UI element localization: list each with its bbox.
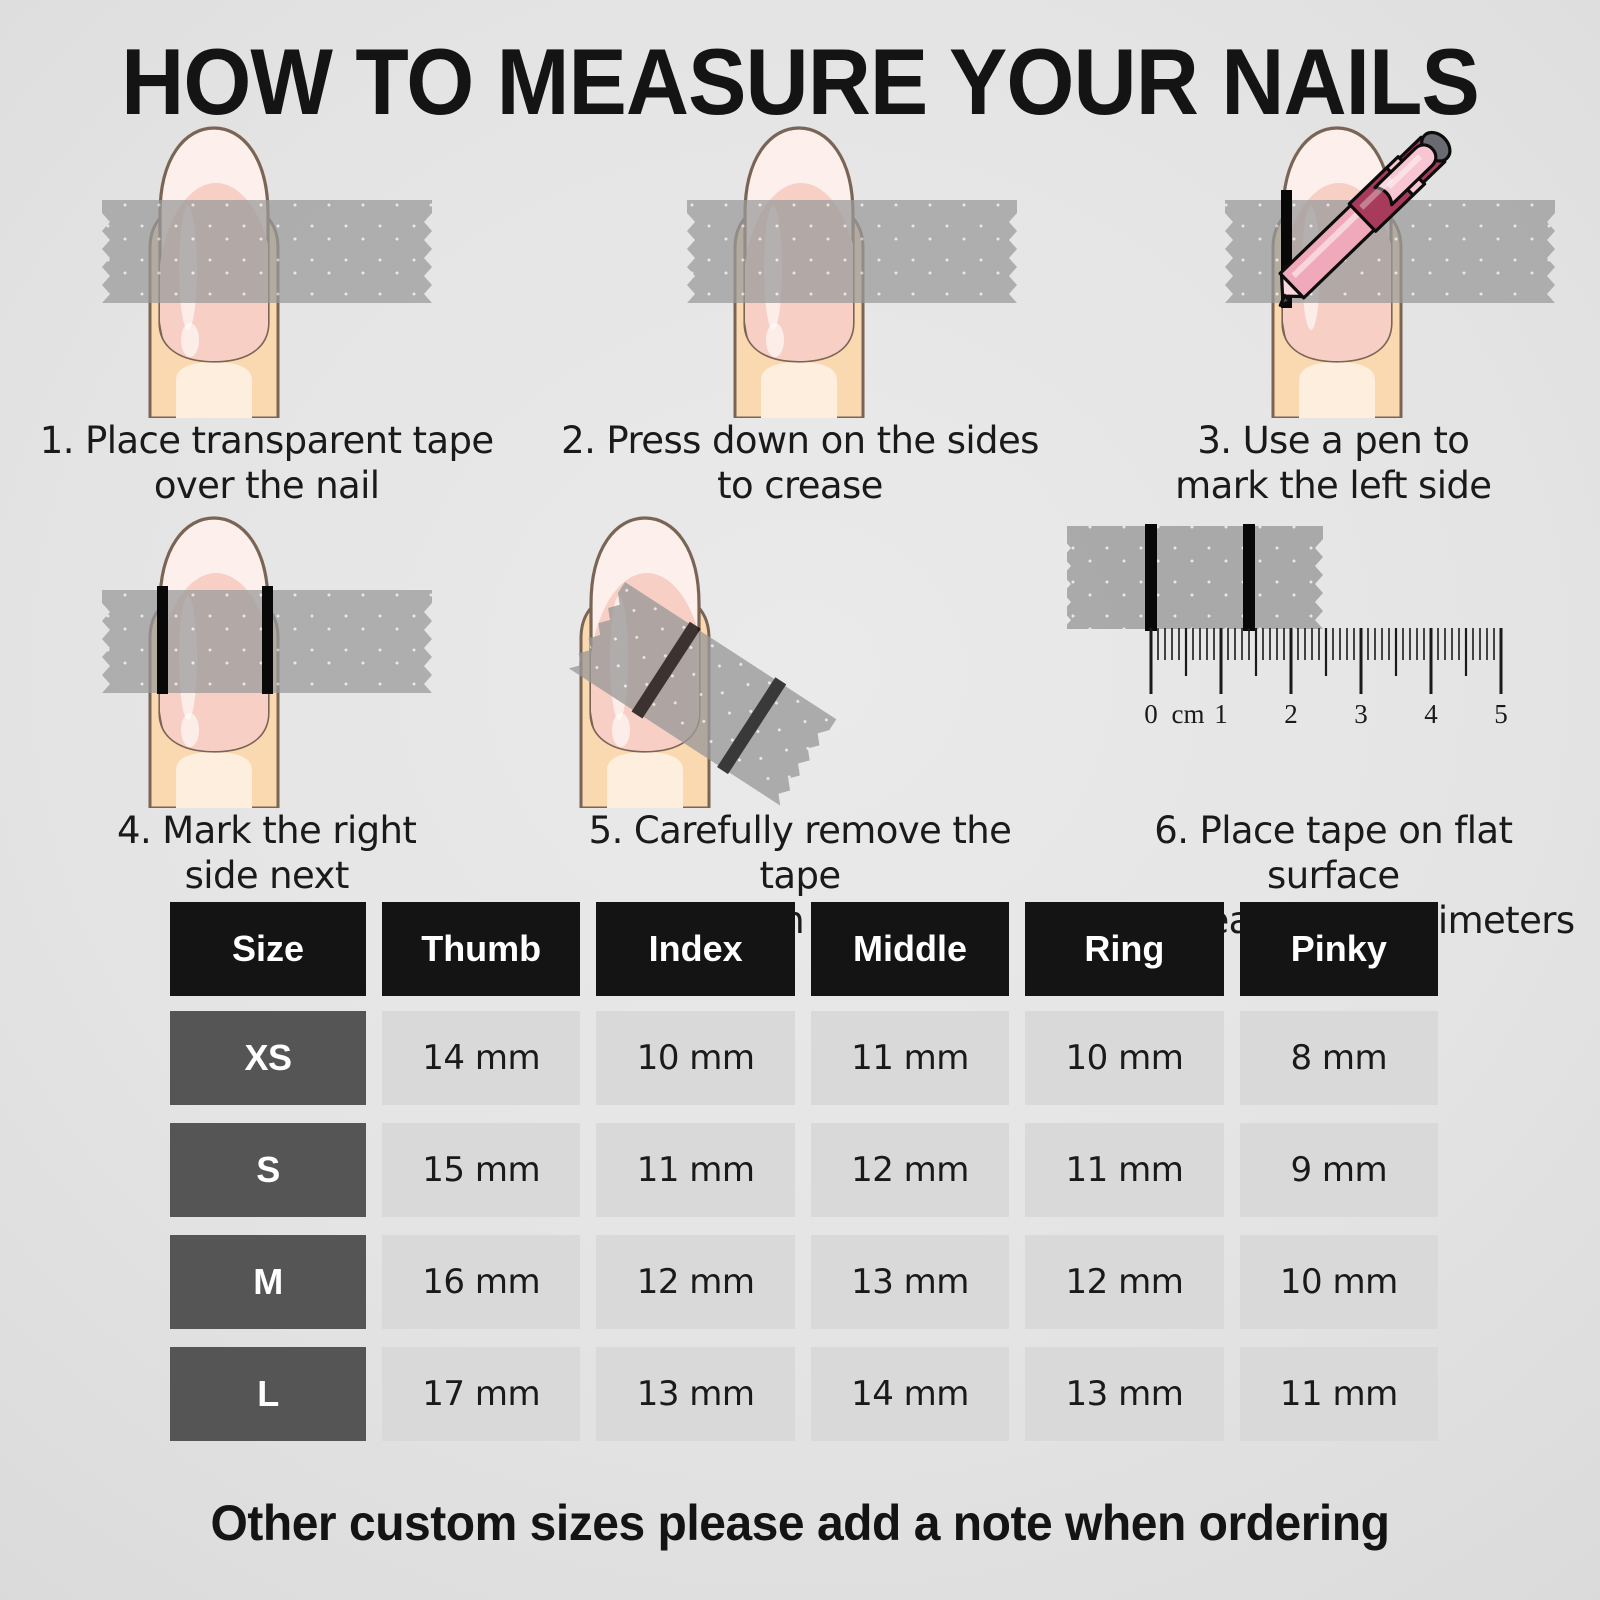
transparent-tape xyxy=(687,200,1017,303)
ruler-unit-label: cm xyxy=(1171,699,1204,729)
ruler-tick-4: 4 xyxy=(1424,699,1438,729)
row-size-label: L xyxy=(170,1347,366,1441)
cell-pinky: 8 mm xyxy=(1240,1011,1438,1105)
row-size-label: XS xyxy=(170,1011,366,1105)
transparent-tape xyxy=(1067,526,1323,629)
step-6-line1: 6. Place tape on flat surface xyxy=(1085,808,1582,898)
ruler-tick-5: 5 xyxy=(1494,699,1508,729)
size-chart-table: Size Thumb Index Middle Ring Pinky XS 14… xyxy=(170,902,1438,1459)
step-3-caption: 3. Use a pen to mark the left side xyxy=(1067,418,1600,508)
cell-middle: 12 mm xyxy=(811,1123,1009,1217)
step-5-illustration xyxy=(533,508,1066,808)
tape-on-ruler-svg: 0 cm 1 2 3 4 5 xyxy=(1067,508,1600,808)
cell-index: 13 mm xyxy=(596,1347,794,1441)
cell-middle: 14 mm xyxy=(811,1347,1009,1441)
cell-thumb: 16 mm xyxy=(382,1235,580,1329)
step-4: 4. Mark the right side next xyxy=(0,508,533,943)
header-cell-middle: Middle xyxy=(811,902,1009,996)
left-pen-mark xyxy=(157,586,168,694)
cell-middle: 11 mm xyxy=(811,1011,1009,1105)
cell-ring: 12 mm xyxy=(1025,1235,1223,1329)
header-cell-thumb: Thumb xyxy=(382,902,580,996)
table-row: M 16 mm 12 mm 13 mm 12 mm 10 mm xyxy=(170,1235,1438,1329)
step-4-line2: side next xyxy=(18,853,515,898)
ruler-tick-3: 3 xyxy=(1354,699,1368,729)
table-body: XS 14 mm 10 mm 11 mm 10 mm 8 mm S 15 mm … xyxy=(170,1011,1438,1441)
steps-row-2: 4. Mark the right side next xyxy=(0,508,1600,943)
ruler-tick-0: 0 xyxy=(1144,699,1158,729)
step-1: 1. Place transparent tape over the nail xyxy=(0,118,533,508)
cell-ring: 10 mm xyxy=(1025,1011,1223,1105)
header-cell-ring: Ring xyxy=(1025,902,1223,996)
row-size-label: M xyxy=(170,1235,366,1329)
header-cell-pinky: Pinky xyxy=(1240,902,1438,996)
footer-note: Other custom sizes please add a note whe… xyxy=(32,1494,1568,1552)
steps-row-1: 1. Place transparent tape over the nail xyxy=(0,118,1600,508)
cell-pinky: 9 mm xyxy=(1240,1123,1438,1217)
step-5: 5. Carefully remove the tape from nail xyxy=(533,508,1066,943)
cell-pinky: 11 mm xyxy=(1240,1347,1438,1441)
cell-index: 11 mm xyxy=(596,1123,794,1217)
table-row: L 17 mm 13 mm 14 mm 13 mm 11 mm xyxy=(170,1347,1438,1441)
step-3: 3. Use a pen to mark the left side xyxy=(1067,118,1600,508)
step-2-caption: 2. Press down on the sides to crease xyxy=(533,418,1066,508)
cell-thumb: 17 mm xyxy=(382,1347,580,1441)
step-4-caption: 4. Mark the right side next xyxy=(0,808,533,898)
step-3-line2: mark the left side xyxy=(1085,463,1582,508)
step-6-illustration: 0 cm 1 2 3 4 5 xyxy=(1067,508,1600,808)
cell-pinky: 10 mm xyxy=(1240,1235,1438,1329)
table-row: S 15 mm 11 mm 12 mm 11 mm 9 mm xyxy=(170,1123,1438,1217)
finger-tape-creased-svg xyxy=(533,118,1067,418)
step-5-line1: 5. Carefully remove the tape xyxy=(551,808,1048,898)
ruler xyxy=(1151,628,1501,694)
header-cell-size: Size xyxy=(170,902,366,996)
step-4-line1: 4. Mark the right xyxy=(18,808,515,853)
finger-tape-pen-svg xyxy=(1067,118,1600,418)
header-cell-index: Index xyxy=(596,902,794,996)
cell-index: 10 mm xyxy=(596,1011,794,1105)
step-3-line1: 3. Use a pen to xyxy=(1085,418,1582,463)
step-2-illustration xyxy=(533,118,1066,418)
step-1-caption: 1. Place transparent tape over the nail xyxy=(0,418,533,508)
cell-thumb: 15 mm xyxy=(382,1123,580,1217)
infographic-page: HOW TO MEASURE YOUR NAILS xyxy=(0,0,1600,1600)
ruler-labels: 0 cm 1 2 3 4 5 xyxy=(1144,699,1508,729)
step-2: 2. Press down on the sides to crease xyxy=(533,118,1066,508)
step-1-line1: 1. Place transparent tape xyxy=(18,418,515,463)
finger-with-tape-svg xyxy=(0,118,534,418)
step-1-illustration xyxy=(0,118,533,418)
cell-ring: 13 mm xyxy=(1025,1347,1223,1441)
tape-mark-left xyxy=(1145,524,1157,631)
step-1-line2: over the nail xyxy=(18,463,515,508)
cell-index: 12 mm xyxy=(596,1235,794,1329)
table-row: XS 14 mm 10 mm 11 mm 10 mm 8 mm xyxy=(170,1011,1438,1105)
row-size-label: S xyxy=(170,1123,366,1217)
cell-middle: 13 mm xyxy=(811,1235,1009,1329)
finger-two-marks-svg xyxy=(0,508,534,808)
step-3-illustration xyxy=(1067,118,1600,418)
step-6: 0 cm 1 2 3 4 5 6. Place tape on flat sur… xyxy=(1067,508,1600,943)
finger-peeling-tape-svg xyxy=(533,508,1067,808)
cell-ring: 11 mm xyxy=(1025,1123,1223,1217)
steps-grid: 1. Place transparent tape over the nail xyxy=(0,118,1600,943)
tape-mark-right xyxy=(1243,524,1255,631)
step-2-line2: to crease xyxy=(551,463,1048,508)
ruler-tick-1: 1 xyxy=(1214,699,1228,729)
cell-thumb: 14 mm xyxy=(382,1011,580,1105)
right-pen-mark xyxy=(262,586,273,694)
transparent-tape xyxy=(102,200,432,303)
step-4-illustration xyxy=(0,508,533,808)
ruler-tick-2: 2 xyxy=(1284,699,1298,729)
table-header-row: Size Thumb Index Middle Ring Pinky xyxy=(170,902,1438,996)
step-2-line1: 2. Press down on the sides xyxy=(551,418,1048,463)
